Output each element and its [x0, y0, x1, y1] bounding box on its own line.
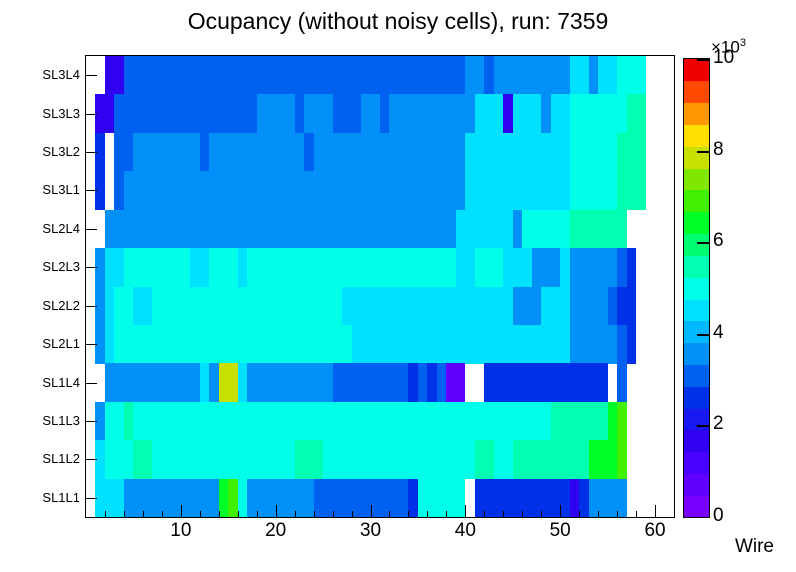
heatmap-cell[interactable]	[228, 479, 237, 518]
heatmap-cell[interactable]	[570, 133, 617, 172]
heatmap-cell[interactable]	[570, 94, 627, 133]
x-axis-major-tick	[371, 505, 372, 517]
heatmap-cell[interactable]	[323, 440, 475, 479]
heatmap-cell[interactable]	[427, 363, 436, 402]
y-axis-tick	[85, 344, 97, 345]
colorbar-band	[684, 81, 709, 103]
heatmap-cell[interactable]	[304, 133, 313, 172]
heatmap-cell[interactable]	[209, 133, 304, 172]
heatmap-cell[interactable]	[465, 171, 569, 210]
x-axis-minor-tick	[579, 511, 580, 517]
colorbar[interactable]	[683, 58, 710, 518]
heatmap-cell[interactable]	[570, 248, 617, 287]
heatmap-cell[interactable]	[105, 210, 456, 249]
heatmap-cell[interactable]	[105, 363, 200, 402]
x-axis-major-tick	[465, 505, 466, 517]
heatmap-cell[interactable]	[522, 210, 569, 249]
x-axis-major-tick	[560, 505, 561, 517]
heatmap-cell[interactable]	[551, 94, 570, 133]
page-title: Ocupancy (without noisy cells), run: 735…	[0, 6, 796, 36]
heatmap-cell[interactable]	[418, 479, 465, 518]
x-axis-minor-tick	[333, 511, 334, 517]
heatmap-cell[interactable]	[408, 479, 417, 518]
y-axis-tick-label-sl3l1: SL3L1	[0, 182, 80, 198]
heatmap-cell[interactable]	[238, 248, 247, 287]
heatmap-cell[interactable]	[219, 363, 238, 402]
colorbar-band	[684, 299, 709, 321]
heatmap-cell[interactable]	[105, 56, 124, 95]
colorbar-band	[684, 277, 709, 299]
heatmap-cell[interactable]	[380, 94, 389, 133]
x-axis-minor-tick	[427, 511, 428, 517]
colorbar-exponent-label: ×103	[711, 33, 746, 58]
x-axis-title: Wire	[735, 536, 774, 558]
heatmap-cell[interactable]	[152, 287, 342, 326]
heatmap-cell[interactable]	[124, 479, 219, 518]
heatmap-cell[interactable]	[608, 402, 617, 441]
colorbar-band	[684, 255, 709, 277]
x-axis-tick-label: 30	[346, 520, 396, 542]
heatmap-cell[interactable]	[314, 133, 466, 172]
heatmap-cell[interactable]	[114, 171, 123, 210]
y-axis-tick-label-sl3l3: SL3L3	[0, 106, 80, 122]
heatmap-cell[interactable]	[456, 248, 475, 287]
heatmap-cell[interactable]	[361, 94, 380, 133]
heatmap-cell[interactable]	[484, 363, 607, 402]
colorbar-band	[684, 168, 709, 190]
heatmap-cell[interactable]	[627, 325, 636, 364]
y-axis-tick-label-sl2l3: SL2L3	[0, 259, 80, 275]
heatmap-cell[interactable]	[333, 363, 409, 402]
x-axis-minor-tick	[541, 511, 542, 517]
colorbar-tick-label: 0	[713, 505, 724, 527]
heatmap-cell[interactable]	[617, 287, 636, 326]
heatmap-cell[interactable]	[589, 479, 627, 518]
heatmap-cell[interactable]	[209, 248, 237, 287]
y-axis-tick-label-sl2l2: SL2L2	[0, 298, 80, 314]
colorbar-band	[684, 452, 709, 474]
heatmap-cell[interactable]	[513, 287, 541, 326]
heatmap-cell[interactable]	[560, 248, 569, 287]
y-axis-tick	[85, 229, 97, 230]
heatmap-cell[interactable]	[617, 325, 626, 364]
heatmap-cell[interactable]	[133, 287, 152, 326]
heatmap-cell[interactable]	[541, 287, 569, 326]
heatmap-cell[interactable]	[494, 440, 513, 479]
x-axis-minor-tick	[446, 511, 447, 517]
y-axis-tick-label-sl1l1: SL1L1	[0, 490, 80, 506]
heatmap-cell[interactable]	[570, 325, 617, 364]
heatmap-cell[interactable]	[105, 402, 124, 441]
x-axis-tick-label: 40	[440, 520, 490, 542]
colorbar-tick-label: 6	[713, 230, 724, 252]
y-axis-tick-label-sl1l4: SL1L4	[0, 375, 80, 391]
heatmap-cell[interactable]	[617, 56, 645, 95]
heatmap-cell[interactable]	[627, 94, 646, 133]
x-axis-minor-tick	[408, 511, 409, 517]
heatmap-cell[interactable]	[617, 248, 626, 287]
x-axis-minor-tick	[636, 511, 637, 517]
colorbar-band	[684, 473, 709, 495]
heatmap-cell[interactable]	[133, 440, 152, 479]
heatmap-cell[interactable]	[295, 440, 323, 479]
y-axis-tick-label-sl2l1: SL2L1	[0, 336, 80, 352]
colorbar-band	[684, 103, 709, 125]
heatmap-cell[interactable]	[95, 94, 114, 133]
heatmap-cell[interactable]	[570, 210, 627, 249]
colorbar-tick-label: 4	[713, 322, 724, 344]
heatmap-cell[interactable]	[627, 248, 636, 287]
x-axis-minor-tick	[257, 511, 258, 517]
heatmap-cell[interactable]	[124, 56, 465, 95]
heatmap-cell[interactable]	[247, 248, 456, 287]
heatmap-cell[interactable]	[257, 94, 295, 133]
x-axis-minor-tick	[598, 511, 599, 517]
x-axis-tick-label: 60	[630, 520, 680, 542]
heatmap-cell[interactable]	[617, 363, 626, 402]
heatmap-cell[interactable]	[133, 402, 550, 441]
x-axis-minor-tick	[105, 511, 106, 517]
colorbar-band	[684, 190, 709, 212]
heatmap-cell[interactable]	[570, 479, 579, 518]
colorbar-band	[684, 364, 709, 386]
heatmap-cell[interactable]	[513, 210, 522, 249]
colorbar-band	[684, 124, 709, 146]
heatmap-cell[interactable]	[617, 171, 645, 210]
heatmap-cell[interactable]	[238, 479, 247, 518]
heatmap-cell[interactable]	[200, 133, 209, 172]
heatmap-cell[interactable]	[674, 479, 675, 518]
heatmap-cell[interactable]	[446, 363, 465, 402]
colorbar-band	[684, 321, 709, 343]
heatmap-cell[interactable]	[133, 133, 199, 172]
x-axis-minor-tick	[238, 511, 239, 517]
heatmap-cell[interactable]	[114, 325, 351, 364]
y-axis-tick	[85, 267, 97, 268]
x-axis-major-tick	[181, 505, 182, 517]
y-axis-tick-label-sl3l4: SL3L4	[0, 67, 80, 83]
x-axis-minor-tick	[143, 511, 144, 517]
heatmap-cell[interactable]	[295, 94, 304, 133]
x-axis-minor-tick	[617, 511, 618, 517]
colorbar-band	[684, 212, 709, 234]
root-canvas: Ocupancy (without noisy cells), run: 735…	[0, 0, 796, 572]
y-axis-tick-label-sl1l3: SL1L3	[0, 413, 80, 429]
heatmap-cell[interactable]	[465, 56, 484, 95]
heatmap-cell[interactable]	[579, 479, 588, 518]
heatmap-cell[interactable]	[475, 440, 494, 479]
heatmap-cell[interactable]	[114, 133, 133, 172]
heatmap-cell[interactable]	[238, 363, 247, 402]
colorbar-tick-label: 2	[713, 413, 724, 435]
heatmap-cell[interactable]	[570, 171, 617, 210]
heatmap-cell[interactable]	[513, 440, 589, 479]
y-axis-tick	[85, 459, 97, 460]
x-axis-minor-tick	[389, 511, 390, 517]
heatmap-cell[interactable]	[475, 248, 503, 287]
heatmap-cell[interactable]	[589, 440, 617, 479]
x-axis-minor-tick	[200, 511, 201, 517]
heatmap-cell[interactable]	[570, 56, 589, 95]
heatmap-cell[interactable]	[570, 287, 608, 326]
heatmap-cell[interactable]	[124, 248, 190, 287]
heatmap-cell[interactable]	[494, 56, 570, 95]
heatmap-cell[interactable]	[209, 363, 218, 402]
y-axis-tick-label-sl1l2: SL1L2	[0, 451, 80, 467]
y-axis-tick	[85, 190, 97, 191]
heatmap-cell[interactable]	[114, 287, 133, 326]
x-axis-tick-label: 20	[251, 520, 301, 542]
heatmap-cell[interactable]	[532, 248, 560, 287]
colorbar-band	[684, 386, 709, 408]
colorbar-band	[684, 495, 709, 517]
heatmap-cell[interactable]	[105, 248, 124, 287]
x-axis-minor-tick	[295, 511, 296, 517]
heatmap-cell[interactable]	[314, 479, 409, 518]
heatmap-cell[interactable]	[598, 56, 617, 95]
x-axis-major-tick	[655, 505, 656, 517]
colorbar-band	[684, 146, 709, 168]
heatmap-cell[interactable]	[551, 402, 608, 441]
x-axis-minor-tick	[484, 511, 485, 517]
heatmap-cell[interactable]	[541, 94, 550, 133]
heatmap-cell[interactable]	[333, 94, 361, 133]
x-axis-minor-tick	[162, 511, 163, 517]
colorbar-tick	[697, 425, 710, 427]
heatmap-cell[interactable]	[219, 479, 228, 518]
heatmap-cell[interactable]	[503, 94, 512, 133]
heatmap-cell[interactable]	[200, 363, 209, 402]
colorbar-band	[684, 59, 709, 81]
y-axis-tick	[85, 114, 97, 115]
y-axis-tick	[85, 306, 97, 307]
x-axis-tick-label: 10	[156, 520, 206, 542]
heatmap-cell[interactable]	[617, 440, 626, 479]
colorbar-tick	[697, 242, 710, 244]
x-axis-minor-tick	[124, 511, 125, 517]
colorbar-tick	[697, 59, 710, 61]
heatmap-cell[interactable]	[589, 56, 598, 95]
y-axis-tick	[85, 75, 97, 76]
colorbar-band	[684, 430, 709, 452]
y-axis-tick	[85, 421, 97, 422]
colorbar-exponent-power: 3	[740, 37, 746, 49]
heatmap-cell[interactable]	[190, 248, 209, 287]
x-axis-minor-tick	[219, 511, 220, 517]
y-axis-tick-label-sl2l4: SL2L4	[0, 221, 80, 237]
heatmap-cell[interactable]	[114, 94, 256, 133]
y-axis-tick	[85, 383, 97, 384]
heatmap-cell[interactable]	[105, 325, 114, 364]
heatmap-cell[interactable]	[124, 402, 133, 441]
heatmap-cell[interactable]	[105, 440, 133, 479]
heatmap-cell[interactable]	[342, 287, 513, 326]
heatmap-cell[interactable]	[617, 133, 645, 172]
colorbar-tick-label: 8	[713, 139, 724, 161]
heatmap-cell[interactable]	[418, 363, 427, 402]
heatmap-cell[interactable]	[247, 363, 332, 402]
x-axis-minor-tick	[352, 511, 353, 517]
x-axis-major-tick	[276, 505, 277, 517]
colorbar-band	[684, 343, 709, 365]
heatmap-cell[interactable]	[465, 133, 569, 172]
y-axis-tick-label-sl3l2: SL3L2	[0, 144, 80, 160]
heatmap-cell[interactable]	[437, 363, 446, 402]
colorbar-band	[684, 233, 709, 255]
heatmap-cell[interactable]	[105, 287, 114, 326]
y-axis-tick	[85, 498, 97, 499]
x-axis-minor-tick	[314, 511, 315, 517]
colorbar-tick	[697, 334, 710, 336]
x-axis-tick-label: 50	[535, 520, 585, 542]
heatmap-cells[interactable]	[86, 56, 674, 517]
heatmap-cell[interactable]	[152, 440, 294, 479]
heatmap-cell[interactable]	[617, 402, 626, 441]
heatmap-cell[interactable]	[503, 248, 531, 287]
heatmap-cell[interactable]	[389, 94, 474, 133]
heatmap-cell[interactable]	[304, 94, 332, 133]
x-axis-minor-tick	[503, 511, 504, 517]
colorbar-tick	[697, 151, 710, 153]
heatmap-cell[interactable]	[352, 325, 570, 364]
heatmap-cell[interactable]	[484, 56, 493, 95]
heatmap-cell[interactable]	[475, 94, 503, 133]
heatmap-cell[interactable]	[124, 171, 465, 210]
heatmap-cell[interactable]	[95, 479, 123, 518]
heatmap-cell[interactable]	[608, 287, 617, 326]
heatmap-cell[interactable]	[408, 363, 417, 402]
x-axis-minor-tick	[522, 511, 523, 517]
colorbar-exponent-base: ×10	[711, 38, 740, 57]
heatmap-cell[interactable]	[456, 210, 513, 249]
heatmap-plot-frame[interactable]	[85, 55, 675, 518]
y-axis-tick	[85, 152, 97, 153]
heatmap-cell[interactable]	[513, 94, 541, 133]
